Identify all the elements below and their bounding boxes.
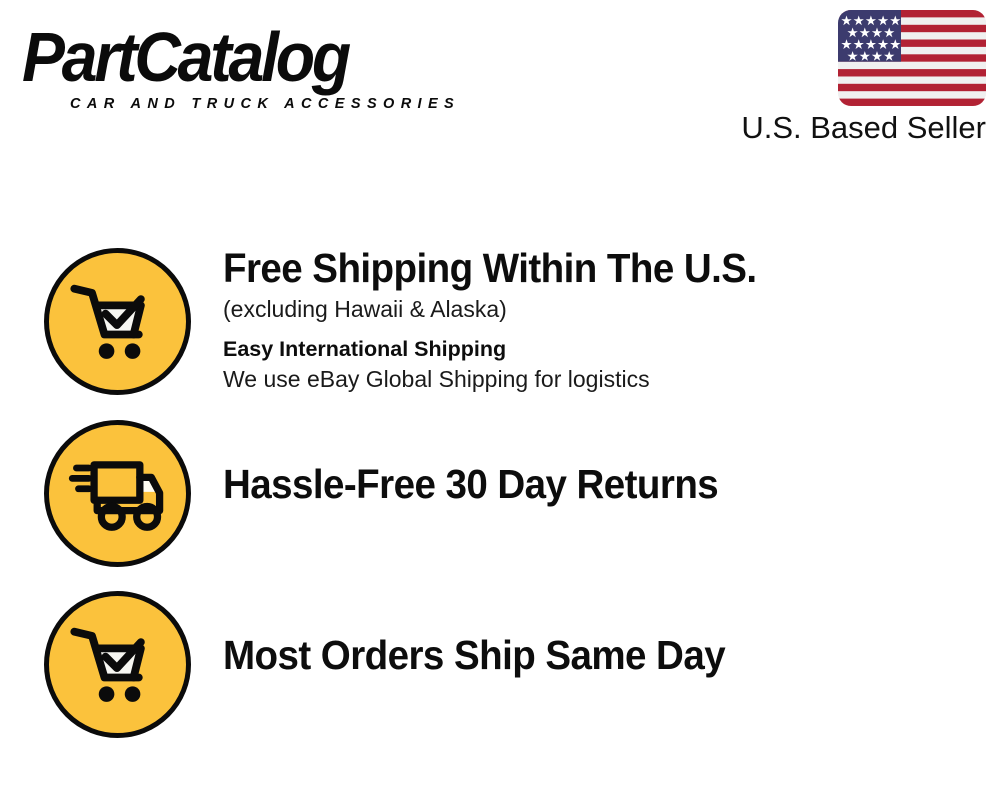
brand-wordmark: PartCatalog bbox=[22, 22, 454, 92]
feature-row: Hassle-Free 30 Day Returns bbox=[0, 410, 1000, 582]
feature-sub-detail: We use eBay Global Shipping for logistic… bbox=[223, 364, 983, 395]
feature-subline: (excluding Hawaii & Alaska) bbox=[223, 294, 983, 325]
brand-logo: PartCatalog CAR AND TRUCK ACCESSORIES bbox=[22, 22, 492, 117]
feature-headline: Free Shipping Within The U.S. bbox=[223, 244, 937, 292]
brand-tagline: CAR AND TRUCK ACCESSORIES bbox=[70, 96, 460, 112]
feature-row: Free Shipping Within The U.S. (excluding… bbox=[0, 238, 1000, 410]
us-based-seller-badge: U.S. Based Seller bbox=[686, 10, 986, 146]
feature-text-block: Most Orders Ship Same Day bbox=[223, 631, 983, 679]
feature-sub-heading: Easy International Shipping bbox=[223, 334, 983, 364]
shopping-cart-check-icon bbox=[44, 591, 191, 738]
us-based-seller-label: U.S. Based Seller bbox=[686, 110, 986, 146]
feature-headline: Most Orders Ship Same Day bbox=[223, 631, 937, 679]
feature-headline: Hassle-Free 30 Day Returns bbox=[223, 460, 937, 508]
feature-text-block: Free Shipping Within The U.S. (excluding… bbox=[223, 244, 983, 395]
shopping-cart-check-icon bbox=[44, 248, 191, 395]
promo-banner: PartCatalog CAR AND TRUCK ACCESSORIES bbox=[0, 0, 1000, 800]
feature-text-block: Hassle-Free 30 Day Returns bbox=[223, 460, 983, 508]
us-flag-icon bbox=[838, 10, 986, 106]
feature-row: Most Orders Ship Same Day bbox=[0, 581, 1000, 753]
delivery-truck-icon bbox=[44, 420, 191, 567]
